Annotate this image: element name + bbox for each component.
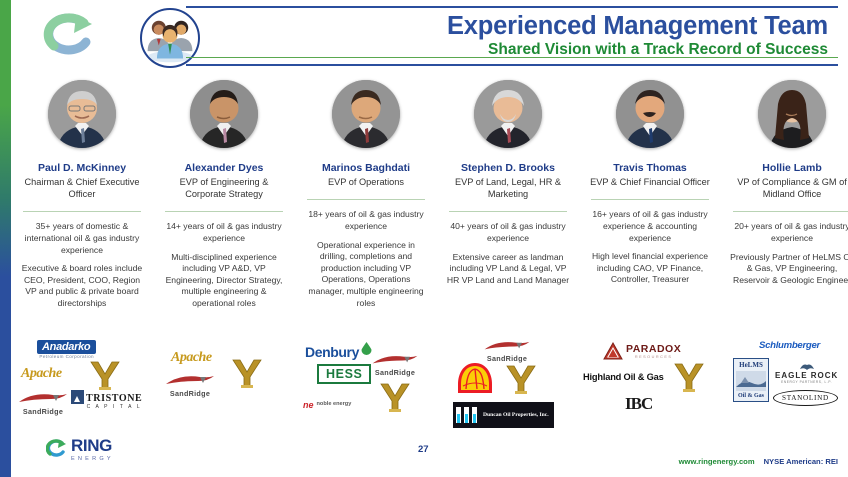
ticker-symbol: NYSE American: REI [764, 457, 838, 466]
prior-employer-logos: Denbury HESS SandRidge [299, 340, 433, 432]
person-column: Marinos Baghdati EVP of Operations 18+ y… [295, 72, 437, 432]
footer-links: www.ringenergy.com NYSE American: REI [679, 457, 838, 466]
person-name: Alexander Dyes [185, 162, 264, 175]
logo-helms-oil-gas: HeLMS Oil & Gas [733, 358, 769, 402]
person-bio: 20+ years of oil & gas industry experien… [729, 221, 848, 286]
ring-energy-logo: RING ENERGY [46, 437, 114, 462]
brand-name: RING [71, 437, 114, 454]
slide-footer: RING ENERGY 27 www.ringenergy.com NYSE A… [0, 431, 848, 477]
bio-paragraph: 40+ years of oil & gas industry experien… [445, 221, 571, 244]
logo-yates [377, 380, 413, 416]
section-divider [23, 211, 141, 212]
logo-denbury: Denbury [305, 342, 372, 361]
person-column: Alexander Dyes EVP of Engineering & Corp… [153, 72, 295, 432]
ring-swirl-icon [46, 439, 68, 461]
person-role: EVP of Engineering & Corporate Strategy [160, 177, 288, 201]
person-role: EVP of Operations [328, 177, 404, 189]
person-name: Hollie Lamb [762, 162, 822, 175]
logo-duncan-oil-properties: Duncan Oil Properties, Inc. [453, 402, 554, 428]
avatar [190, 80, 258, 148]
person-column: Hollie Lamb VP of Compliance & GM of Mid… [721, 72, 848, 432]
logo-sandridge: SandRidge [17, 392, 69, 416]
person-role: EVP & Chief Financial Officer [590, 177, 710, 189]
ring-swirl-icon [40, 12, 102, 60]
bio-paragraph: Executive & board roles include CEO, Pre… [19, 263, 145, 309]
website-link[interactable]: www.ringenergy.com [679, 457, 755, 466]
logo-yates [229, 356, 265, 392]
avatar [474, 80, 542, 148]
section-divider [165, 211, 283, 212]
prior-employer-logos: PARADOX RESOURCES Highland Oil & Gas IBC [583, 340, 717, 432]
person-name: Travis Thomas [613, 162, 687, 175]
logo-sandridge: SandRidge [481, 340, 533, 363]
logo-highland-oil-gas: Highland Oil & Gas [583, 372, 664, 382]
person-role: VP of Compliance & GM of Midland Office [728, 177, 848, 201]
page-number: 27 [418, 444, 429, 455]
bio-paragraph: 20+ years of oil & gas industry experien… [729, 221, 848, 244]
person-name: Paul D. McKinney [38, 162, 126, 175]
logo-anadarko: Anadarko Petroleum Corporation [37, 340, 96, 359]
bio-paragraph: Extensive career as landman including VP… [445, 252, 571, 287]
logo-eagle-rock: EAGLE ROCK ENERGY PARTNERS, L.P. [775, 362, 838, 384]
people-columns: Paul D. McKinney Chairman & Chief Execut… [11, 72, 848, 432]
logo-noble-energy: ne noble energy [303, 400, 351, 410]
page-title: Experienced Management Team [447, 13, 828, 40]
avatar [48, 80, 116, 148]
bio-paragraph: Multi-disciplined experience including V… [161, 252, 287, 310]
bio-paragraph: 18+ years of oil & gas industry experien… [303, 209, 429, 232]
page-subtitle: Shared Vision with a Track Record of Suc… [488, 42, 828, 58]
person-role: EVP of Land, Legal, HR & Marketing [444, 177, 572, 201]
person-bio: 14+ years of oil & gas industry experien… [161, 221, 287, 309]
section-divider [591, 199, 709, 200]
section-divider [449, 211, 567, 212]
logo-schlumberger: Schlumberger [759, 340, 820, 351]
logo-yates [671, 360, 707, 396]
person-name: Stephen D. Brooks [461, 162, 555, 175]
logo-yates [87, 358, 123, 394]
logo-ibc: IBC [625, 394, 652, 414]
prior-employer-logos: Apache SandRidge [157, 340, 291, 432]
section-divider [733, 211, 848, 212]
person-column: Stephen D. Brooks EVP of Land, Legal, HR… [437, 72, 579, 432]
bio-paragraph: Previously Partner of HeLMS Oil & Gas, V… [729, 252, 848, 287]
person-bio: 40+ years of oil & gas industry experien… [445, 221, 571, 286]
person-column: Paul D. McKinney Chairman & Chief Execut… [11, 72, 153, 432]
section-divider [307, 199, 425, 200]
person-bio: 16+ years of oil & gas industry experien… [587, 209, 713, 286]
person-role: Chairman & Chief Executive Officer [18, 177, 146, 201]
logo-sandridge: SandRidge [369, 354, 421, 377]
brand-tagline: ENERGY [71, 456, 114, 462]
logo-tristone-capital: TRISTONE C A P I T A L [71, 390, 142, 410]
avatar [758, 80, 826, 148]
person-column: Travis Thomas EVP & Chief Financial Offi… [579, 72, 721, 432]
person-bio: 18+ years of oil & gas industry experien… [303, 209, 429, 309]
person-name: Marinos Baghdati [322, 162, 410, 175]
logo-shell [457, 362, 493, 396]
bio-paragraph: 14+ years of oil & gas industry experien… [161, 221, 287, 244]
left-accent-stripe [0, 0, 11, 477]
logo-hess: HESS [317, 364, 371, 384]
slide-header: Experienced Management Team Shared Visio… [186, 6, 838, 66]
avatar [332, 80, 400, 148]
logo-paradox-resources: PARADOX RESOURCES [603, 342, 681, 360]
slide-root: Experienced Management Team Shared Visio… [0, 0, 848, 477]
logo-apache: Apache [171, 350, 212, 366]
bio-paragraph: 16+ years of oil & gas industry experien… [587, 209, 713, 244]
bio-paragraph: Operational experience in drilling, comp… [303, 240, 429, 310]
bio-paragraph: High level financial experience includin… [587, 251, 713, 286]
prior-employer-logos: Schlumberger HeLMS Oil & Gas EAGLE ROCK … [725, 340, 848, 432]
prior-employer-logos: SandRidge [441, 340, 575, 432]
person-bio: 35+ years of domestic & international oi… [19, 221, 145, 309]
avatar [616, 80, 684, 148]
prior-employer-logos: Anadarko Petroleum Corporation Apache Sa [15, 340, 149, 432]
logo-apache: Apache [21, 366, 62, 382]
logo-yates [503, 362, 539, 398]
logo-sandridge: SandRidge [163, 374, 217, 398]
bio-paragraph: 35+ years of domestic & international oi… [19, 221, 145, 256]
logo-stanolind: STANOLIND [773, 390, 838, 406]
